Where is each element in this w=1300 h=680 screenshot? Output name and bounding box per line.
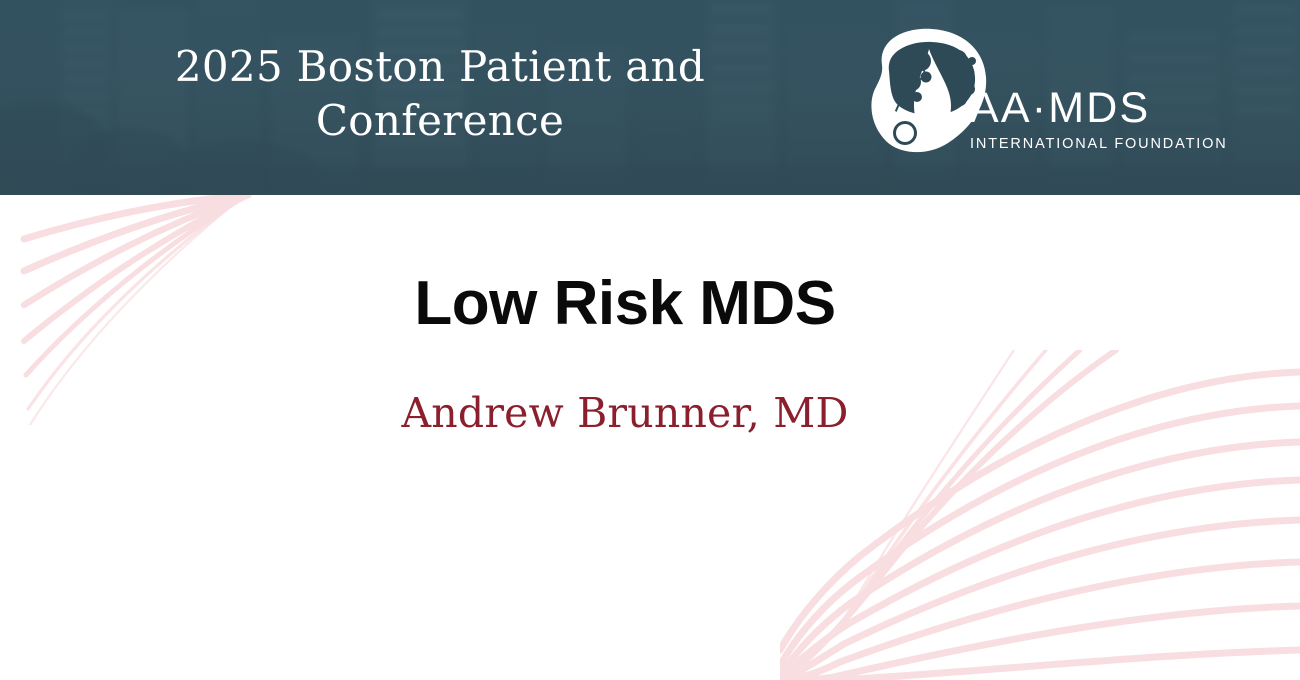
slide-header-band: 2025 Boston Patient and Conference [0,0,1300,195]
slide-body: Low Risk MDS Andrew Brunner, MD [0,195,1300,680]
aamds-wordmark: AA·MDS INTERNATIONAL FOUNDATION [970,87,1192,152]
slide-title: Low Risk MDS [0,271,1250,336]
aamds-wordmark-text: AA·MDS [970,87,1192,130]
presentation-slide: 2025 Boston Patient and Conference [0,0,1300,680]
presenter-name: Andrew Brunner, MD [0,391,1250,436]
aamds-tagline-text: INTERNATIONAL FOUNDATION [970,137,1192,152]
aamds-logo: AA·MDS INTERNATIONAL FOUNDATION [862,25,1192,170]
conference-title: 2025 Boston Patient and Conference [40,40,840,148]
